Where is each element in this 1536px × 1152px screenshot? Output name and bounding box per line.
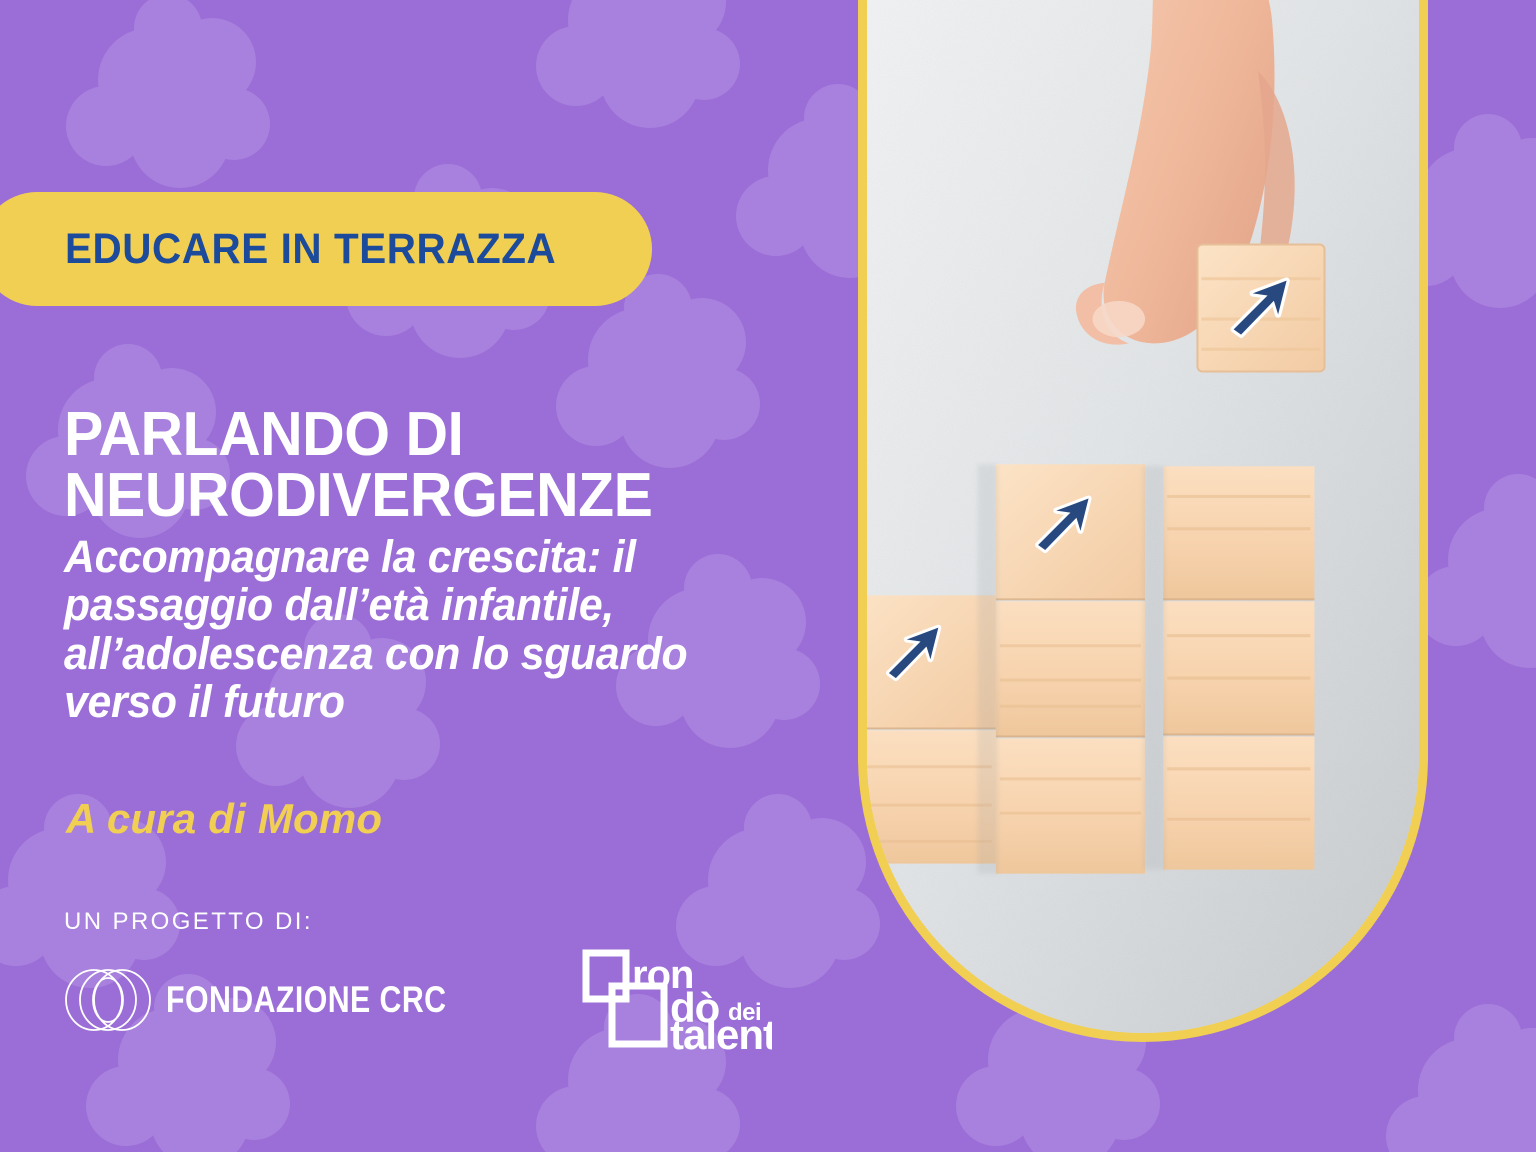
poster-canvas: EDUCARE IN TERRAZZA PARLANDO DI NEURODIV… bbox=[0, 0, 1536, 1152]
svg-text:talenti: talenti bbox=[670, 1011, 772, 1052]
page-title-line-2: NEURODIVERGENZE bbox=[64, 466, 815, 527]
wooden-blocks-photo-illustration bbox=[867, 0, 1419, 1033]
category-badge: EDUCARE IN TERRAZZA bbox=[0, 192, 652, 306]
fondazione-crc-logo: FONDAZIONE CRC bbox=[64, 967, 508, 1033]
crc-circles-icon bbox=[64, 967, 152, 1033]
project-label: UN PROGETTO DI: bbox=[64, 908, 704, 936]
curator-credit: A cura di Momo bbox=[66, 795, 382, 843]
footer: UN PROGETTO DI: FONDAZIONE CRC bbox=[64, 908, 704, 1052]
page-title: PARLANDO DI NEURODIVERGENZE bbox=[64, 405, 815, 527]
page-subtitle: Accompagnare la crescita: il passaggio d… bbox=[64, 533, 815, 727]
title-block: PARLANDO DI NEURODIVERGENZE Accompagnare… bbox=[64, 405, 854, 727]
photo-image bbox=[867, 0, 1419, 1033]
page-subtitle-line-3: all’adolescenza con lo sguardo bbox=[64, 630, 815, 679]
left-content-column: EDUCARE IN TERRAZZA PARLANDO DI NEURODIV… bbox=[0, 0, 860, 1152]
category-badge-label: EDUCARE IN TERRAZZA bbox=[65, 225, 556, 274]
page-subtitle-line-4: verso il futuro bbox=[64, 678, 815, 727]
page-subtitle-line-2: passaggio dall’età infantile, bbox=[64, 581, 815, 630]
logo-row: FONDAZIONE CRC ron dò dei talenti bbox=[64, 948, 704, 1052]
fondazione-crc-wordmark: FONDAZIONE CRC bbox=[166, 979, 446, 1021]
rondo-dei-talenti-logo: ron dò dei talenti bbox=[580, 948, 772, 1052]
photo-panel bbox=[858, 0, 1428, 1042]
page-title-line-1: PARLANDO DI bbox=[64, 405, 815, 466]
page-subtitle-line-1: Accompagnare la crescita: il bbox=[64, 533, 815, 582]
